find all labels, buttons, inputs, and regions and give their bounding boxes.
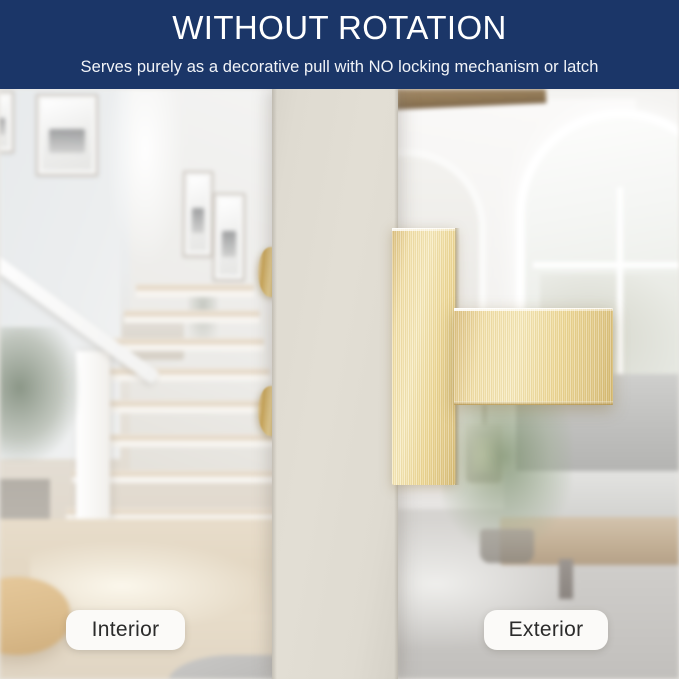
header-banner: WITHOUT ROTATION Serves purely as a deco… bbox=[0, 0, 679, 89]
stair-step bbox=[136, 284, 254, 297]
frame-artwork-image bbox=[191, 208, 204, 233]
banner-title: WITHOUT ROTATION bbox=[0, 8, 679, 48]
backplate-top-highlight bbox=[392, 228, 456, 231]
handle-bottom-shadow bbox=[454, 401, 613, 405]
exterior-plant-pot bbox=[480, 529, 534, 563]
exterior-sofa-leg bbox=[559, 559, 573, 599]
exterior-potted-plant bbox=[442, 389, 572, 549]
window-mullion-horizontal bbox=[533, 262, 679, 268]
frame-artwork-image bbox=[49, 129, 85, 153]
interior-label-pill: Interior bbox=[66, 610, 185, 650]
stair-step bbox=[100, 368, 270, 381]
frame-mat bbox=[189, 177, 208, 251]
stair-newel-post bbox=[76, 351, 110, 531]
scene-area bbox=[0, 89, 679, 679]
product-feature-image: WITHOUT ROTATION Serves purely as a deco… bbox=[0, 0, 679, 679]
interior-light-wash bbox=[105, 89, 185, 269]
stair-step bbox=[112, 338, 264, 351]
door-pull-backplate bbox=[392, 228, 456, 485]
framed-artwork bbox=[36, 94, 98, 176]
frame-mat bbox=[42, 100, 92, 170]
exterior-label-pill: Exterior bbox=[484, 610, 608, 650]
door-slab bbox=[272, 89, 398, 679]
handle-top-highlight bbox=[454, 308, 613, 311]
frame-mat bbox=[0, 97, 8, 147]
framed-artwork bbox=[0, 91, 14, 153]
door-edge-left bbox=[272, 89, 277, 679]
door-pull-handle-bar bbox=[454, 308, 613, 405]
interior-potted-plant bbox=[0, 327, 80, 462]
stair-step bbox=[90, 400, 278, 413]
frame-artwork-image bbox=[0, 118, 5, 135]
banner-subtitle: Serves purely as a decorative pull with … bbox=[0, 56, 679, 78]
stair-step bbox=[124, 310, 260, 323]
stair-step bbox=[80, 434, 280, 447]
interior-scene-photo bbox=[0, 89, 280, 679]
